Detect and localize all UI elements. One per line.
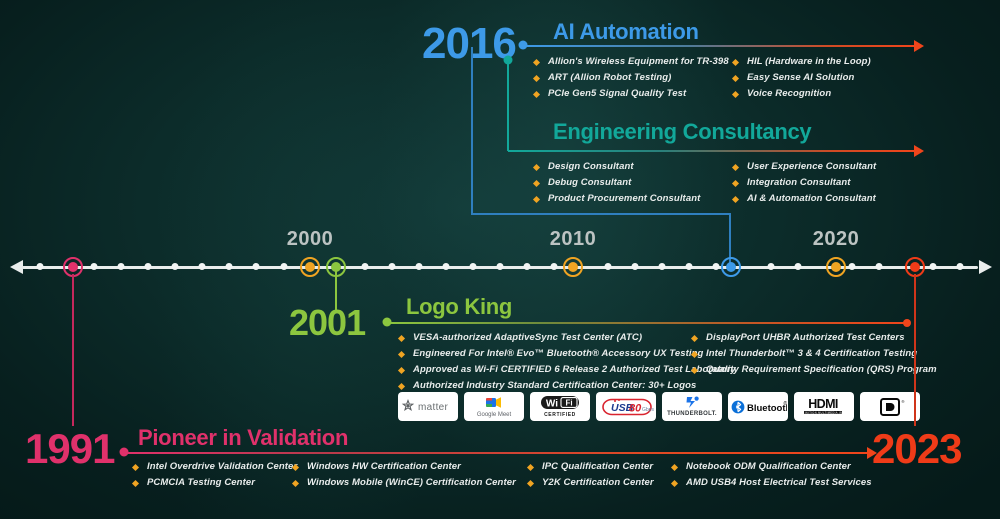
ai-automation-list-left: Allion's Wireless Equipment for TR-398 A…	[534, 56, 729, 104]
list-item: IPC Qualification Center	[528, 461, 654, 472]
axis-tick	[280, 263, 287, 270]
list-item: Windows HW Certification Center	[293, 461, 516, 472]
list-item: Intel Thunderbolt™ 3 & 4 Certification T…	[692, 348, 937, 359]
logo-king-start-dot	[383, 318, 392, 327]
timeline-axis: 200020102020	[0, 230, 1000, 290]
pioneer-list-col2: Windows HW Certification Center Windows …	[293, 461, 516, 493]
logo-king-list-left: VESA-authorized AdaptiveSync Test Center…	[399, 332, 736, 396]
node-2020[interactable]	[826, 257, 846, 277]
axis-tick	[848, 263, 855, 270]
node-2016[interactable]	[721, 257, 741, 277]
node-2010[interactable]	[563, 257, 583, 277]
axis-tick	[199, 263, 206, 270]
svg-text:Wi: Wi	[546, 398, 558, 409]
year-2016-label: 2016	[422, 22, 516, 66]
list-item: Approved as Wi-Fi CERTIFIED 6 Release 2 …	[399, 364, 736, 375]
certification-logo-badges: matter Google Meet Wi Fi CERTIFIED	[398, 392, 920, 421]
badge-wifi-certified-logo: Wi Fi CERTIFIED	[530, 392, 590, 421]
decade-label-2010: 2010	[550, 228, 597, 251]
list-item: HIL (Hardware in the Loop)	[733, 56, 871, 67]
pioneer-list-col3: IPC Qualification Center Y2K Certificati…	[528, 461, 654, 493]
list-item: Easy Sense AI Solution	[733, 72, 871, 83]
logo-king-list-right: DisplayPort UHBR Authorized Test Centers…	[692, 332, 937, 380]
axis-tick	[686, 263, 693, 270]
axis-tick	[605, 263, 612, 270]
list-item: AI & Automation Consultant	[733, 193, 876, 204]
svg-text:matter: matter	[418, 402, 449, 413]
list-item: DisplayPort UHBR Authorized Test Centers	[692, 332, 937, 343]
svg-text:HDMI: HDMI	[808, 397, 838, 411]
connector-consultancy-vertical	[507, 60, 509, 151]
axis-tick	[551, 263, 558, 270]
svg-text:Fi: Fi	[565, 398, 572, 407]
axis-tick	[713, 263, 720, 270]
axis-tick	[957, 263, 964, 270]
svg-text:80: 80	[629, 402, 642, 414]
badge-matter-logo: matter	[398, 392, 458, 421]
axis-tick	[37, 263, 44, 270]
list-item: Debug Consultant	[534, 177, 700, 188]
axis-tick	[659, 263, 666, 270]
axis-tick	[469, 263, 476, 270]
axis-tick	[388, 263, 395, 270]
axis-tick	[442, 263, 449, 270]
list-item: Notebook ODM Qualification Center	[672, 461, 872, 472]
axis-tick	[415, 263, 422, 270]
axis-tick	[875, 263, 882, 270]
pioneer-in-validation-title: Pioneer in Validation	[138, 425, 348, 451]
list-item: Engineered For Intel® Evo™ Bluetooth® Ac…	[399, 348, 736, 359]
list-item: Voice Recognition	[733, 88, 871, 99]
axis-tick	[767, 263, 774, 270]
axis-tick	[118, 263, 125, 270]
list-item: AMD USB4 Host Electrical Test Services	[672, 477, 872, 488]
year-1991-label: 1991	[25, 428, 114, 470]
svg-text:CERTIFIED: CERTIFIED	[544, 412, 576, 418]
axis-tick	[929, 263, 936, 270]
list-item: Y2K Certification Center	[528, 477, 654, 488]
axis-tick	[632, 263, 639, 270]
list-item: Windows Mobile (WinCE) Certification Cen…	[293, 477, 516, 488]
svg-text:HIGH-DEFINITION MULTIMEDIA INT: HIGH-DEFINITION MULTIMEDIA INTERFACE	[796, 410, 852, 414]
svg-text:Google Meet: Google Meet	[477, 412, 512, 418]
engineering-consultancy-list-left: Design Consultant Debug Consultant Produ…	[534, 161, 700, 209]
axis-arrow-right-icon	[979, 260, 992, 274]
decade-label-2020: 2020	[813, 228, 860, 251]
badge-google-meet-logo: Google Meet	[464, 392, 524, 421]
axis-tick	[226, 263, 233, 270]
pioneer-start-dot	[120, 448, 129, 457]
engineering-consultancy-title: Engineering Consultancy	[553, 119, 811, 145]
pioneer-list-col4: Notebook ODM Qualification Center AMD US…	[672, 461, 872, 493]
svg-text:®: ®	[902, 399, 905, 404]
connector-2023-vertical	[914, 274, 916, 426]
list-item: Allion's Wireless Equipment for TR-398	[534, 56, 729, 67]
svg-text:®: ®	[784, 400, 788, 407]
pioneer-list-col1: Intel Overdrive Validation Center PCMCIA…	[133, 461, 297, 493]
badge-displayport-logo: ®	[860, 392, 920, 421]
badge-hdmi-logo: HDMI HIGH-DEFINITION MULTIMEDIA INTERFAC…	[794, 392, 854, 421]
list-item: Intel Overdrive Validation Center	[133, 461, 297, 472]
engineering-consultancy-list-right: User Experience Consultant Integration C…	[733, 161, 876, 209]
year-2023-label: 2023	[872, 428, 961, 470]
ai-automation-rule	[523, 45, 915, 47]
list-item: Product Procurement Consultant	[534, 193, 700, 204]
list-item: Quality Requirement Specification (QRS) …	[692, 364, 937, 375]
axis-tick	[91, 263, 98, 270]
badge-thunderbolt-logo: THUNDERBOLT.	[662, 392, 722, 421]
ai-automation-start-dot	[519, 41, 528, 50]
node-2000[interactable]	[300, 257, 320, 277]
axis-arrow-left-icon	[10, 260, 23, 274]
logo-king-rule	[387, 322, 907, 324]
axis-tick	[253, 263, 260, 270]
badge-usb80-logo: USB 80 Gbps	[596, 392, 656, 421]
svg-text:THUNDERBOLT.: THUNDERBOLT.	[667, 411, 717, 417]
pioneer-in-validation-rule	[124, 452, 868, 454]
decade-label-2000: 2000	[287, 228, 334, 251]
connector-2016-vertical	[471, 47, 473, 215]
list-item: PCMCIA Testing Center	[133, 477, 297, 488]
connector-2016-horizontal	[471, 213, 731, 215]
connector-consultancy-dot	[504, 56, 513, 65]
connector-1991-vertical	[72, 274, 74, 426]
list-item: ART (Allion Robot Testing)	[534, 72, 729, 83]
list-item: PCIe Gen5 Signal Quality Test	[534, 88, 729, 99]
logo-king-title: Logo King	[406, 294, 512, 320]
svg-text:Gbps: Gbps	[642, 407, 654, 413]
axis-tick	[497, 263, 504, 270]
list-item: Integration Consultant	[733, 177, 876, 188]
list-item: VESA-authorized AdaptiveSync Test Center…	[399, 332, 736, 343]
axis-tick	[145, 263, 152, 270]
list-item: Design Consultant	[534, 161, 700, 172]
axis-tick	[524, 263, 531, 270]
axis-tick	[794, 263, 801, 270]
axis-tick	[361, 263, 368, 270]
list-item: User Experience Consultant	[733, 161, 876, 172]
badge-bluetooth-logo: Bluetooth ®	[728, 392, 788, 421]
ai-automation-title: AI Automation	[553, 19, 699, 45]
svg-text:Bluetooth: Bluetooth	[747, 403, 787, 414]
ai-automation-list-right: HIL (Hardware in the Loop) Easy Sense AI…	[733, 56, 871, 104]
engineering-consultancy-rule	[508, 150, 915, 152]
list-item: Authorized Industry Standard Certificati…	[399, 380, 736, 391]
axis-tick	[172, 263, 179, 270]
year-2001-label: 2001	[289, 305, 365, 341]
